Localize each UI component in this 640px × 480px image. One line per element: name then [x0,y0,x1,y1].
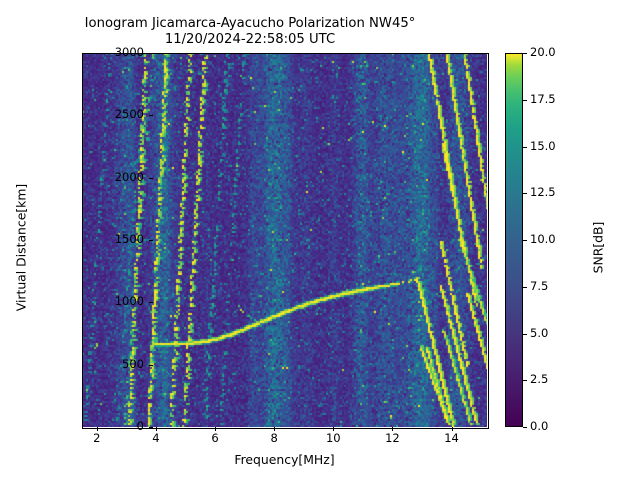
y-tick [149,302,153,303]
y-tick-label: 2000 [115,172,144,184]
colorbar-tick-label: 12.5 [530,187,556,199]
x-tick-label: 14 [444,433,459,445]
colorbar-tick-label: 7.5 [530,281,548,293]
colorbar-tick [523,427,527,428]
colorbar-tick [523,193,527,194]
colorbar-tick [523,147,527,148]
x-tick-label: 8 [270,433,277,445]
x-axis-label: Frequency[MHz] [82,452,487,467]
colorbar-tick-label: 10.0 [530,234,556,246]
y-tick [149,53,153,54]
colorbar-label: SNR[dB] [591,148,606,348]
colorbar-tick-label: 15.0 [530,141,556,153]
colorbar-tick-label: 2.5 [530,374,548,386]
colorbar-tick-label: 5.0 [530,328,548,340]
colorbar [505,53,523,427]
y-tick-label: 3000 [115,47,144,59]
ionogram-figure: Ionogram Jicamarca-Ayacucho Polarization… [0,0,640,480]
y-tick [149,365,153,366]
x-tick-label: 6 [211,433,218,445]
colorbar-tick [523,53,527,54]
x-tick-label: 12 [385,433,400,445]
y-axis-label: Virtual Distance[km] [14,148,29,348]
colorbar-tick [523,287,527,288]
chart-title-line1: Ionogram Jicamarca-Ayacucho Polarization… [0,16,500,32]
colorbar-tick-label: 17.5 [530,94,556,106]
y-tick [149,240,153,241]
y-tick-label: 0 [137,421,144,433]
y-tick [149,115,153,116]
y-tick [149,427,153,428]
y-tick [149,178,153,179]
colorbar-tick [523,100,527,101]
x-tick-label: 10 [326,433,341,445]
chart-title: Ionogram Jicamarca-Ayacucho Polarization… [0,16,500,48]
colorbar-tick [523,334,527,335]
y-tick-label: 2500 [115,109,144,121]
colorbar-tick-label: 20.0 [530,47,556,59]
y-tick-label: 1500 [115,234,144,246]
x-tick-label: 2 [93,433,100,445]
x-tick-label: 4 [152,433,159,445]
chart-title-line2: 11/20/2024-22:58:05 UTC [0,32,500,48]
colorbar-tick [523,240,527,241]
y-tick-label: 1000 [115,296,144,308]
colorbar-tick [523,380,527,381]
y-tick-label: 500 [122,359,144,371]
colorbar-tick-label: 0.0 [530,421,548,433]
